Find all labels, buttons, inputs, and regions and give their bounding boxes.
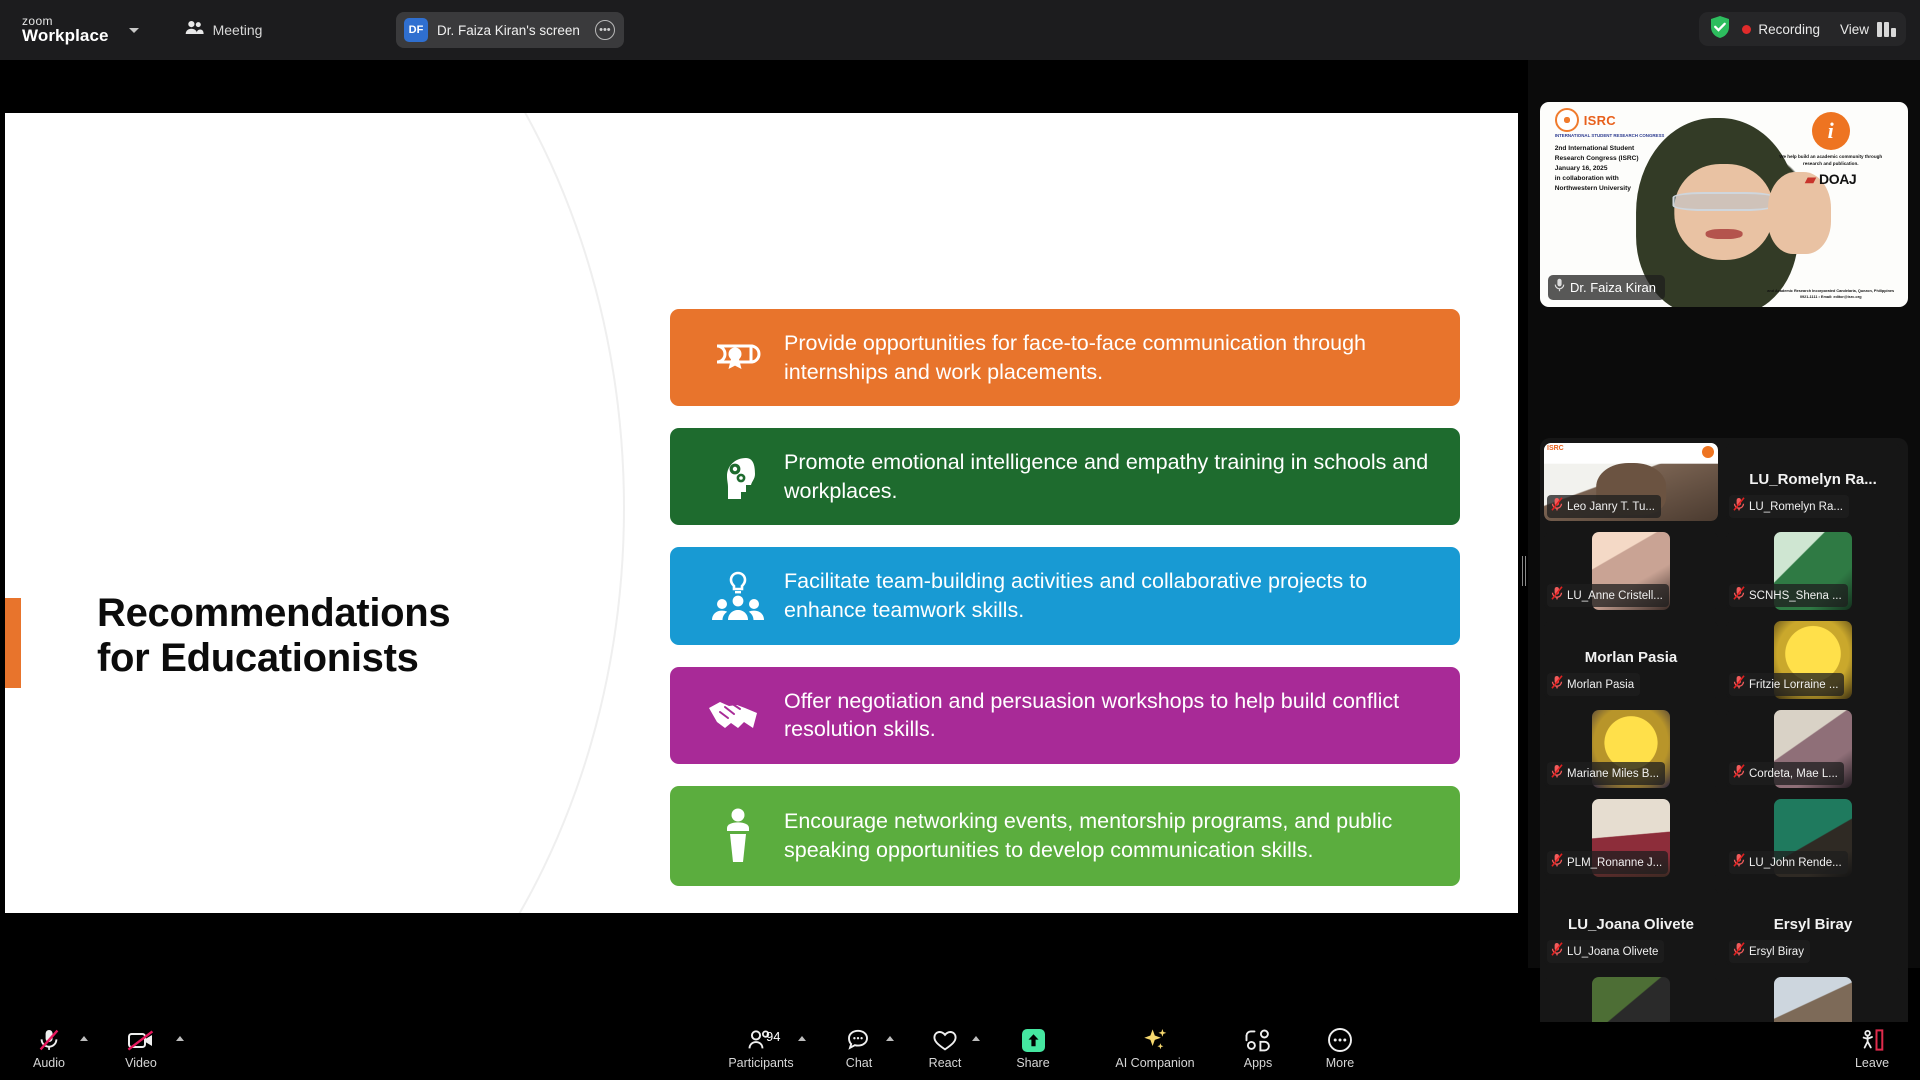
recommendation-card-text: Provide opportunities for face-to-face c… — [784, 309, 1442, 406]
participant-nameplate: Morlan Pasia — [1547, 673, 1640, 696]
mic-muted-icon — [1733, 853, 1745, 872]
participant-nameplate: Fritzie Lorraine ... — [1729, 673, 1844, 696]
share-button[interactable]: Share — [996, 1026, 1070, 1070]
video-button[interactable]: Video — [104, 1026, 178, 1070]
isrc-acronym: ISRC — [1584, 113, 1616, 128]
participant-name: Leo Janry T. Tu... — [1567, 501, 1655, 513]
video-side-panel: ISRC INTERNATIONAL STUDENT RESEARCH CONG… — [1528, 60, 1920, 968]
recommendation-card-text: Offer negotiation and persuasion worksho… — [784, 667, 1442, 764]
slide-title-line-1: Recommendations — [97, 591, 567, 636]
participant-tile[interactable]: Mariane Miles B... — [1544, 710, 1718, 788]
recommendation-card: Offer negotiation and persuasion worksho… — [670, 667, 1460, 764]
doaj-tagline: We help build an academic community thro… — [1772, 154, 1890, 168]
participant-name: Morlan Pasia — [1567, 679, 1634, 691]
recommendation-card-list: Provide opportunities for face-to-face c… — [670, 309, 1460, 908]
react-button[interactable]: React — [908, 1026, 982, 1070]
react-options-caret-icon[interactable] — [972, 1036, 980, 1041]
handshake-icon — [692, 694, 784, 736]
layout-icon[interactable] — [1877, 22, 1896, 37]
more-button[interactable]: More — [1260, 1026, 1420, 1070]
decorative-arc — [5, 113, 625, 913]
participant-name: Ersyl Biray — [1749, 946, 1804, 958]
participant-name: LU_Romelyn Ra... — [1749, 501, 1843, 513]
mic-muted-icon — [1733, 675, 1745, 694]
audio-label: Audio — [12, 1056, 86, 1070]
mic-muted-icon — [1551, 586, 1563, 605]
participant-nameplate: SCNHS_Shena ... — [1729, 584, 1848, 607]
participant-nameplate: PLM_Ronanne J... — [1547, 851, 1668, 874]
more-dots-icon — [1260, 1026, 1420, 1054]
video-options-caret-icon[interactable] — [176, 1036, 184, 1041]
more-label: More — [1260, 1056, 1420, 1070]
participant-nameplate: Ersyl Biray — [1729, 940, 1810, 963]
participant-nameplate: Cordeta, Mae L... — [1729, 762, 1844, 785]
top-bar: zoom Workplace Meeting DF Dr. Faiza Kira… — [0, 0, 1920, 60]
globe-icon — [1555, 108, 1579, 132]
participant-tile[interactable]: PLM_Ronanne J... — [1544, 799, 1718, 877]
event-line-2: Research Congress (ISRC) — [1555, 154, 1699, 164]
heart-icon — [908, 1026, 982, 1054]
mic-muted-icon — [1733, 942, 1745, 961]
participant-name: Mariane Miles B... — [1567, 768, 1659, 780]
event-line-3: January 16, 2025 — [1555, 164, 1699, 174]
status-pill: Recording View — [1699, 12, 1906, 46]
react-label: React — [908, 1056, 982, 1070]
participant-tile[interactable]: LU_Joana OliveteLU_Joana Olivete — [1544, 888, 1718, 966]
participant-name: LU_John Rende... — [1749, 857, 1842, 869]
shield-check-icon[interactable] — [1709, 15, 1731, 44]
event-line-4: in collaboration with — [1555, 174, 1699, 184]
isrc-banner: ISRC INTERNATIONAL STUDENT RESEARCH CONG… — [1555, 108, 1699, 193]
event-line-1: 2nd International Student — [1555, 144, 1699, 154]
participant-tile[interactable]: Fritzie Lorraine ... — [1726, 621, 1900, 699]
participant-name: Cordeta, Mae L... — [1749, 768, 1838, 780]
recommendation-card: Encourage networking events, mentorship … — [670, 786, 1460, 886]
participants-label: Participants — [713, 1056, 809, 1070]
video-label: Video — [104, 1056, 178, 1070]
leave-door-icon — [1835, 1026, 1909, 1054]
doaj-banner: i We help build an academic community th… — [1772, 112, 1890, 188]
participant-nameplate: LU_Romelyn Ra... — [1729, 495, 1849, 518]
participant-tile[interactable]: Morlan PasiaMorlan Pasia — [1544, 621, 1718, 699]
recommendation-card-text: Promote emotional intelligence and empat… — [784, 428, 1442, 525]
speaker-podium-icon — [692, 807, 784, 865]
speaker-nameplate: Dr. Faiza Kiran — [1548, 275, 1665, 300]
participant-tile[interactable]: Cordeta, Mae L... — [1726, 710, 1900, 788]
mic-muted-icon — [1733, 764, 1745, 783]
team-idea-icon — [692, 570, 784, 622]
participant-tile[interactable]: LU_John Rende... — [1726, 799, 1900, 877]
chat-button[interactable]: Chat — [822, 1026, 896, 1070]
audio-options-caret-icon[interactable] — [80, 1036, 88, 1041]
share-up-arrow-icon — [996, 1026, 1070, 1054]
mouth-shape — [1706, 229, 1743, 239]
audio-button[interactable]: Audio — [12, 1026, 86, 1070]
participant-nameplate: Mariane Miles B... — [1547, 762, 1665, 785]
glasses-shape — [1672, 192, 1775, 210]
accent-tab — [5, 598, 21, 688]
share-label: Share — [996, 1056, 1070, 1070]
chevron-right-icon[interactable]: › — [1914, 750, 1920, 806]
screen-share-title: Dr. Faiza Kiran's screen — [437, 23, 580, 38]
isrc-expanded: INTERNATIONAL STUDENT RESEARCH CONGRESS — [1555, 133, 1699, 139]
participant-name: Fritzie Lorraine ... — [1749, 679, 1838, 691]
doaj-wordmark: ▰ DOAJ — [1772, 171, 1890, 188]
view-button[interactable]: View — [1840, 22, 1869, 37]
mic-icon — [1554, 278, 1565, 297]
participant-name: LU_Joana Olivete — [1567, 946, 1658, 958]
participant-nameplate: LU_John Rende... — [1729, 851, 1848, 874]
participant-tile[interactable]: LU_Anne Cristell... — [1544, 532, 1718, 610]
participants-button[interactable]: Participants — [713, 1026, 809, 1070]
participant-name: PLM_Ronanne J... — [1567, 857, 1662, 869]
camera-muted-icon — [104, 1026, 178, 1054]
participants-count: 94 — [766, 1029, 780, 1044]
chat-label: Chat — [822, 1056, 896, 1070]
shared-screen-stage[interactable]: Recommendations for Educationists Provid… — [0, 60, 1528, 968]
record-dot-icon — [1742, 25, 1751, 34]
more-dots-icon[interactable]: ••• — [595, 20, 615, 40]
recording-indicator[interactable]: Recording — [1742, 22, 1820, 37]
event-line-5: Northwestern University — [1555, 184, 1699, 194]
meeting-controls-bar: Audio Video Participants 94 — [0, 1022, 1920, 1080]
participant-display-name: Morlan Pasia — [1544, 649, 1718, 666]
screen-share-chip[interactable]: DF Dr. Faiza Kiran's screen ••• — [396, 12, 624, 48]
presentation-slide: Recommendations for Educationists Provid… — [5, 113, 1518, 913]
people-icon — [713, 1026, 809, 1054]
participant-nameplate: LU_Joana Olivete — [1547, 940, 1664, 963]
tab-meeting-label: Meeting — [213, 22, 263, 38]
participant-tile[interactable]: Ersyl BirayErsyl Biray — [1726, 888, 1900, 966]
speaker-footer-text: and Academic Research Incorporated Cande… — [1765, 288, 1897, 301]
participant-display-name: LU_Romelyn Ra... — [1726, 471, 1900, 488]
recommendation-card: Promote emotional intelligence and empat… — [670, 428, 1460, 525]
speaker-name: Dr. Faiza Kiran — [1570, 280, 1656, 295]
drag-handle-icon[interactable] — [1522, 556, 1526, 586]
avatar: DF — [404, 18, 428, 42]
participant-display-name: LU_Joana Olivete — [1544, 916, 1718, 933]
chevron-down-icon[interactable] — [129, 28, 139, 33]
tab-meeting[interactable]: Meeting — [185, 20, 263, 40]
recommendation-card: Facilitate team-building activities and … — [670, 547, 1460, 644]
doaj-mark-icon: i — [1812, 112, 1850, 150]
recommendation-card-text: Facilitate team-building activities and … — [784, 547, 1442, 644]
active-speaker-tile[interactable]: ISRC INTERNATIONAL STUDENT RESEARCH CONG… — [1540, 102, 1908, 307]
participant-display-name: Ersyl Biray — [1726, 916, 1900, 933]
participant-gallery[interactable]: ISRCLeo Janry T. Tu...LU_Romelyn Ra...LU… — [1540, 438, 1908, 1074]
recording-label: Recording — [1758, 22, 1820, 37]
participant-tile[interactable]: ISRCLeo Janry T. Tu... — [1544, 443, 1718, 521]
recommendation-card: Provide opportunities for face-to-face c… — [670, 309, 1460, 406]
chat-options-caret-icon[interactable] — [886, 1036, 894, 1041]
mic-muted-icon — [1551, 853, 1563, 872]
mic-muted-icon — [1733, 586, 1745, 605]
participant-nameplate: LU_Anne Cristell... — [1547, 584, 1669, 607]
participants-options-caret-icon[interactable] — [798, 1036, 806, 1041]
brain-gears-head-icon — [692, 450, 784, 504]
people-icon — [185, 20, 204, 40]
participant-name: SCNHS_Shena ... — [1749, 590, 1842, 602]
participant-nameplate: Leo Janry T. Tu... — [1547, 495, 1661, 518]
participant-tile[interactable]: SCNHS_Shena ... — [1726, 532, 1900, 610]
mic-muted-icon — [1551, 764, 1563, 783]
mic-muted-icon — [1733, 497, 1745, 516]
participant-tile[interactable]: LU_Romelyn Ra...LU_Romelyn Ra... — [1726, 443, 1900, 521]
mic-muted-icon — [12, 1026, 86, 1054]
zoom-workplace-logo[interactable]: zoom Workplace — [22, 15, 109, 45]
mic-muted-icon — [1551, 675, 1563, 694]
page-title: Recommendations for Educationists — [97, 591, 567, 681]
recommendation-card-text: Encourage networking events, mentorship … — [784, 787, 1442, 884]
leave-label: Leave — [1835, 1056, 1909, 1070]
chat-bubble-icon — [822, 1026, 896, 1054]
leave-button[interactable]: Leave — [1835, 1026, 1909, 1070]
mic-muted-icon — [1551, 942, 1563, 961]
mic-muted-icon — [1551, 497, 1563, 516]
brand-title: Workplace — [22, 27, 109, 45]
diploma-scroll-icon — [692, 333, 784, 383]
participant-name: LU_Anne Cristell... — [1567, 590, 1663, 602]
slide-title-line-2: for Educationists — [97, 636, 567, 681]
